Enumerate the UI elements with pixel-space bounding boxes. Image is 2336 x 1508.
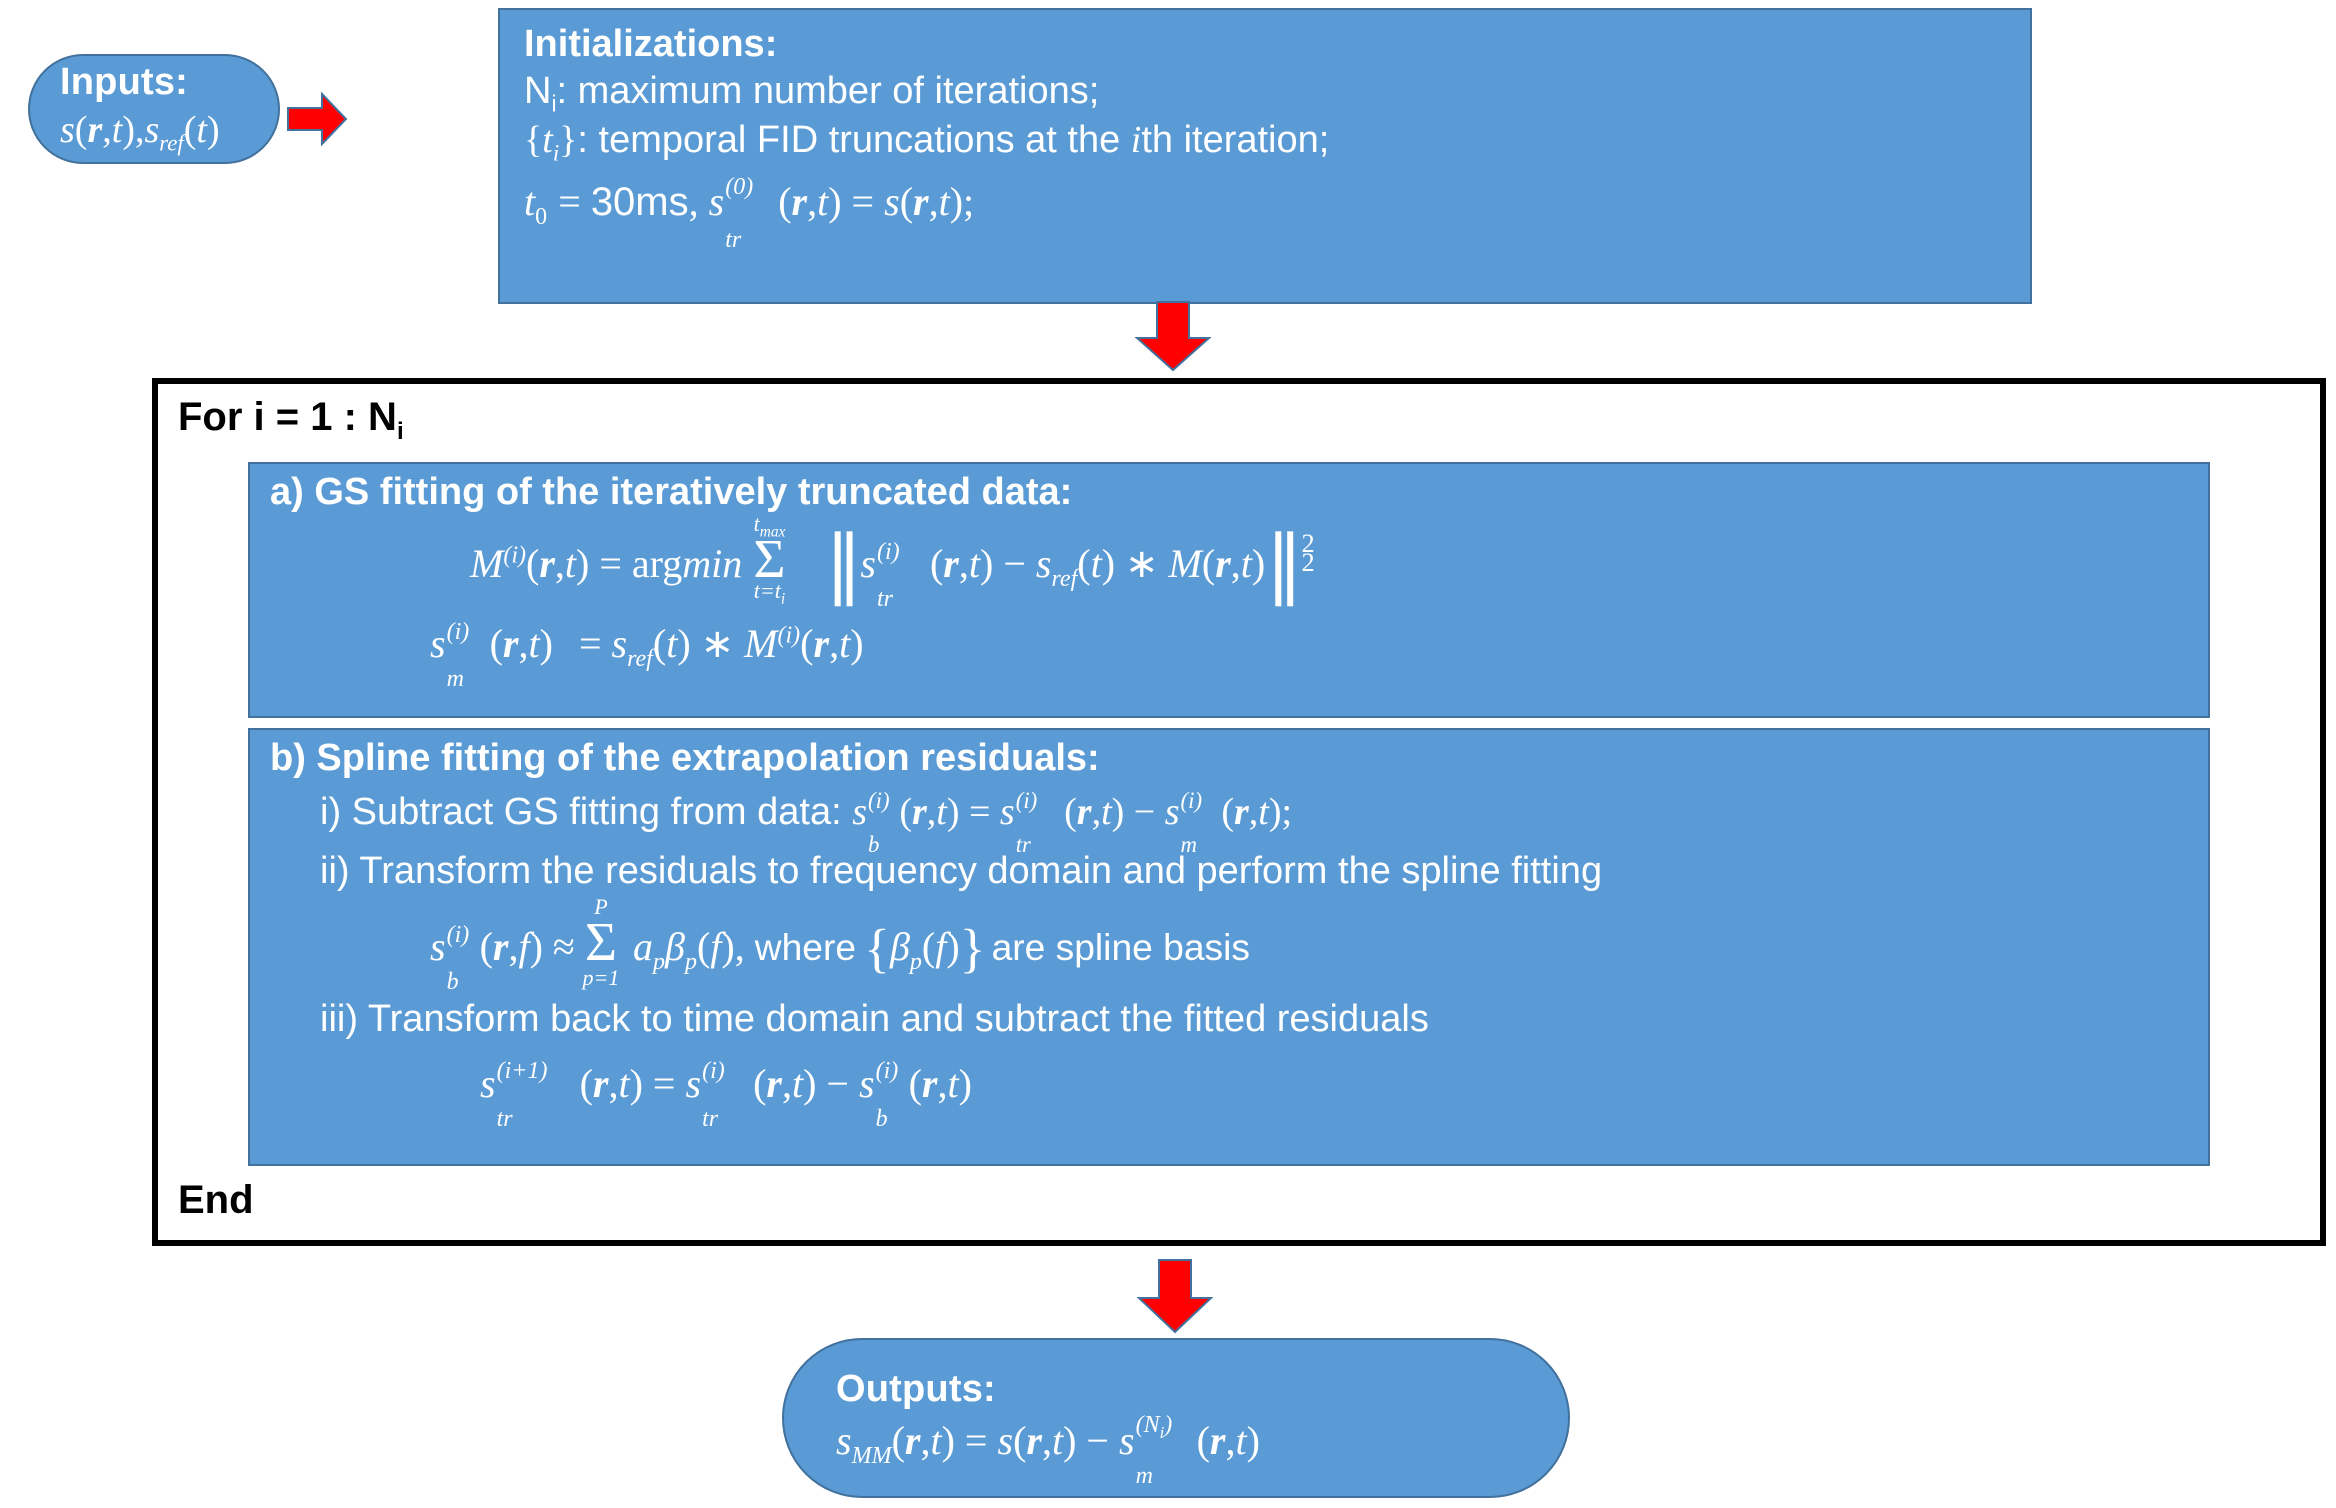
initializations-line-2: {ti}: temporal FID truncations at the it… [524,116,2030,165]
initializations-title: Initializations: [524,22,2030,67]
section-b-equation-iii: s(i+1)tr(r,t) = s(i)tr(r,t) − s(i)b(r,t) [480,1059,2208,1109]
section-b-step-i: i) Subtract GS fitting from data: s(i)b(… [320,790,2208,836]
arrow-down-icon [1135,1258,1215,1334]
for-loop-header: For i = 1 : Ni [178,395,404,446]
initializations-node: Initializations: Ni: maximum number of i… [498,8,2032,304]
for-loop-end: End [178,1178,254,1223]
arrow-down-icon [1133,300,1213,372]
section-b-step-ii: ii) Transform the residuals to frequency… [320,849,2208,895]
section-b-node: b) Spline fitting of the extrapolation r… [248,728,2210,1166]
t0-value: 30ms [591,180,689,224]
outputs-title: Outputs: [836,1370,1568,1410]
arrow-loop-to-outputs [1135,1258,1215,1334]
arrow-inputs-to-init [286,88,348,150]
arrow-init-to-loop [1133,300,1213,372]
outputs-equation: sMM(r,t) = s(r,t) − s(Ni)m(r,t) [836,1416,1568,1466]
section-a-node: a) GS fitting of the iteratively truncat… [248,462,2210,718]
section-b-heading: b) Spline fitting of the extrapolation r… [270,738,2208,780]
inputs-title: Inputs: [60,63,278,103]
section-a-equation-1: M(i)(r,t) = argmin Σtmaxt=ti ∥s(i)tr(r,t… [470,524,2208,593]
initializations-line-1: Ni: maximum number of iterations; [524,67,2030,116]
inputs-node: Inputs: s(r,t),sref(t) [28,54,280,164]
section-b-step-iii: iii) Transform back to time domain and s… [320,997,2208,1043]
arrow-right-icon [286,88,348,150]
outputs-node: Outputs: sMM(r,t) = s(r,t) − s(Ni)m(r,t) [782,1338,1570,1498]
where-label: where [755,926,856,968]
section-a-equation-2: s(i)m(r,t) = sref(t) ∗ M(i)(r,t) [430,619,2208,669]
inputs-equation: s(r,t),sref(t) [60,107,278,155]
spline-basis-label: are spline basis [992,926,1250,968]
section-b-equation-ii: s(i)b(r,f) ≈ ΣPp=1apβp(f), where{βp(f)}a… [430,907,2208,983]
section-a-heading: a) GS fitting of the iteratively truncat… [270,472,2208,514]
initializations-line-3: t0 = 30ms, s(0)tr(r,t) = s(r,t); [524,172,2030,232]
